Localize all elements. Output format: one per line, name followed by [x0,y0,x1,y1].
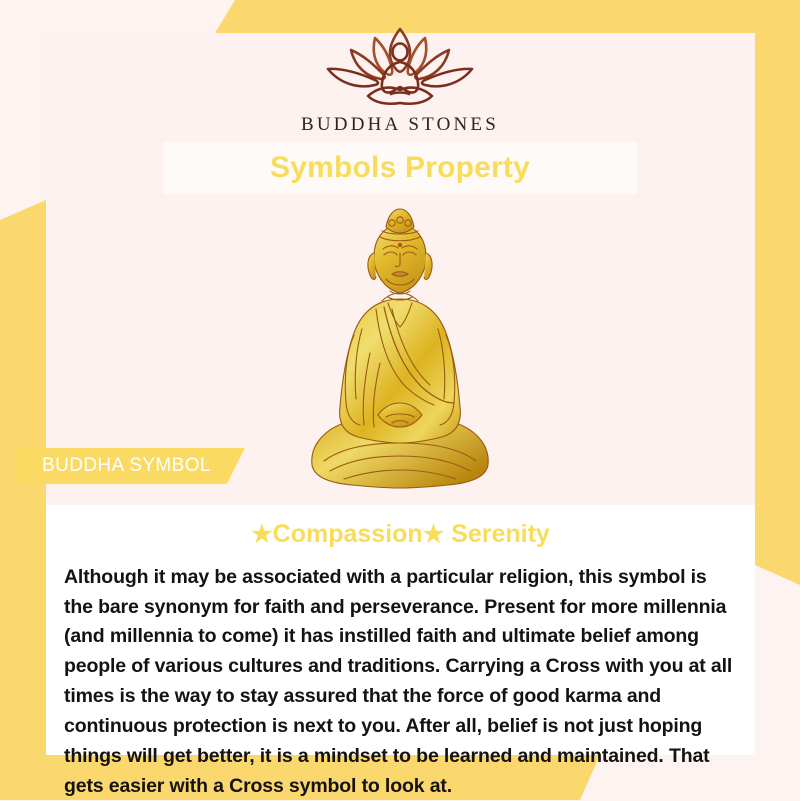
brand-name: BUDDHA STONES [301,114,499,136]
article-body: Although it may be associated with a par… [64,563,737,801]
article-heading-word-two: Serenity [444,520,550,548]
article-heading: ★Compassion★ Serenity [64,519,737,550]
lotus-meditation-icon [315,22,485,110]
article-card: ★Compassion★ Serenity Although it may be… [46,505,755,755]
page-title: Symbols Property [270,151,530,185]
star-icon-left: ★ [251,521,273,548]
section-ribbon: BUDDHA SYMBOL [16,448,245,484]
star-icon-right: ★ [423,521,445,548]
section-ribbon-label: BUDDHA SYMBOL [42,455,211,477]
article-heading-word-one: Compassion [273,520,423,548]
seated-buddha-statue-icon [300,203,500,491]
title-banner: Symbols Property [163,142,637,194]
brand-header: BUDDHA STONES [0,22,800,136]
